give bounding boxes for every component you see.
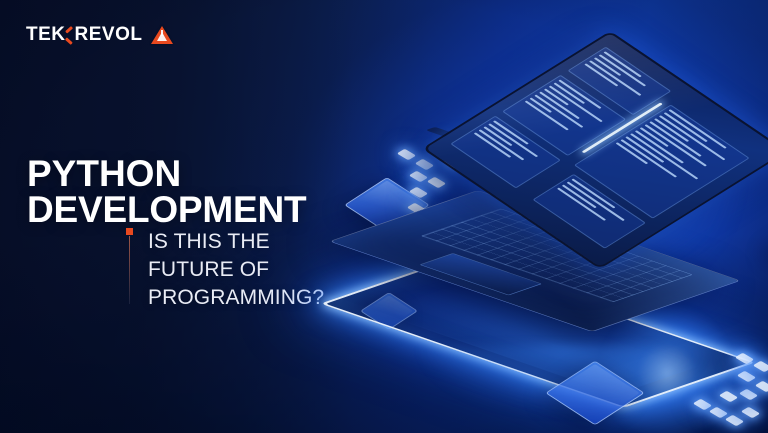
subheading-line-3: PROGRAMMING? (148, 284, 324, 312)
logo-wedge-icon (65, 27, 74, 43)
logo-wordmark: TEK REVOL (26, 24, 142, 46)
subheading-block: IS THIS THE FUTURE OF PROGRAMMING? (126, 228, 324, 312)
triangle-icon (151, 25, 173, 45)
isometric-laptop-scene (378, 46, 768, 433)
bullet-square-shape (126, 228, 133, 235)
page-title-line-2: DEVELOPMENT (27, 192, 306, 227)
square-bullet-icon (126, 228, 148, 306)
page-title-line-1: PYTHON (27, 156, 306, 191)
subheading-line-2: FUTURE OF (148, 256, 324, 284)
ground-reflection (418, 346, 708, 416)
logo-text-revol: REVOL (75, 24, 143, 46)
python-development-banner: TEK REVOL PYTHON DEVELOPMENT IS THIS THE… (0, 0, 768, 433)
subheading-text: IS THIS THE FUTURE OF PROGRAMMING? (148, 228, 324, 312)
triangle-stem-shape (161, 30, 163, 36)
isometric-laptop (402, 50, 742, 350)
tekrevol-logo[interactable]: TEK REVOL (26, 24, 173, 46)
subheading-line-1: IS THIS THE (148, 228, 324, 256)
page-title: PYTHON DEVELOPMENT (27, 156, 306, 226)
bullet-line-shape (129, 236, 130, 304)
logo-text-tek: TEK (26, 24, 66, 46)
